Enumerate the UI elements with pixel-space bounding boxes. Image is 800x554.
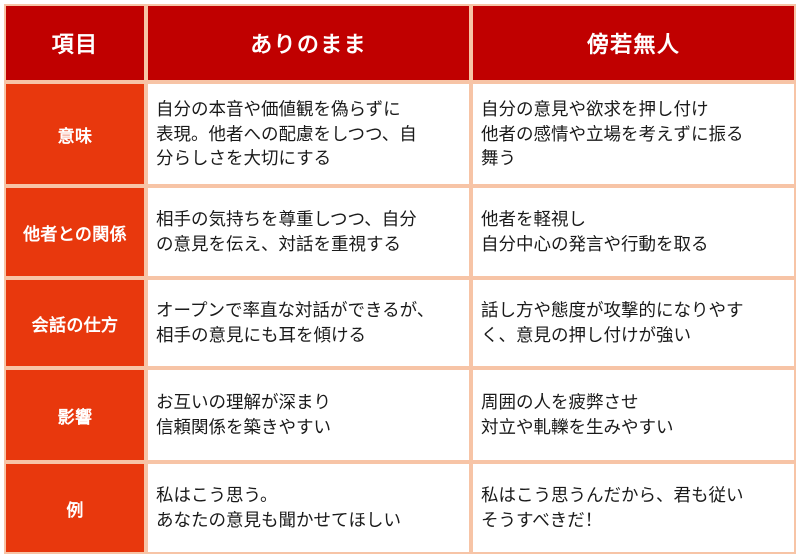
cell-line: 表現。他者への配慮をしつつ、自	[156, 122, 463, 147]
cell-eikyo-arinomama: お互いの理解が深まり 信頼関係を築きやすい	[146, 368, 471, 462]
cell-line: 対立や軋轢を生みやすい	[481, 415, 788, 440]
table-row: 他者との関係 相手の気持ちを尊重しつつ、自分 の意見を伝え、対話を重視する 他者…	[4, 186, 796, 278]
cell-line: 周囲の人を疲弊させ	[481, 390, 788, 415]
column-header-item: 項目	[4, 4, 146, 82]
cell-kaiwa-arinomama: オープンで率直な対話ができるが、 相手の意見にも耳を傾ける	[146, 278, 471, 368]
table-header: 項目 ありのまま 傍若無人	[4, 4, 796, 82]
cell-line: 相手の意見にも耳を傾ける	[156, 323, 463, 348]
cell-imi-arinomama: 自分の本音や価値観を偽らずに 表現。他者への配慮をしつつ、自 分らしさを大切にす…	[146, 82, 471, 186]
row-label-kaiwa: 会話の仕方	[4, 278, 146, 368]
cell-line: 自分中心の発言や行動を取る	[481, 232, 788, 257]
cell-kaiwa-boujakubujin: 話し方や態度が攻撃的になりやす く、意見の押し付けが強い	[471, 278, 796, 368]
cell-line: 他者を軽視し	[481, 207, 788, 232]
row-label-rei: 例	[4, 462, 146, 554]
cell-line: 相手の気持ちを尊重しつつ、自分	[156, 207, 463, 232]
cell-line: 話し方や態度が攻撃的になりやす	[481, 298, 788, 323]
cell-rei-boujakubujin: 私はこう思うんだから、君も従い そうすべきだ！	[471, 462, 796, 554]
cell-line: あなたの意見も聞かせてほしい	[156, 508, 463, 533]
cell-line: 他者の感情や立場を考えずに振る	[481, 122, 788, 147]
row-label-imi: 意味	[4, 82, 146, 186]
cell-kankei-boujakubujin: 他者を軽視し 自分中心の発言や行動を取る	[471, 186, 796, 278]
cell-imi-boujakubujin: 自分の意見や欲求を押し付け 他者の感情や立場を考えずに振る 舞う	[471, 82, 796, 186]
row-label-kankei: 他者との関係	[4, 186, 146, 278]
cell-line: く、意見の押し付けが強い	[481, 323, 788, 348]
cell-line: 自分の本音や価値観を偽らずに	[156, 97, 463, 122]
table-row: 例 私はこう思う。 あなたの意見も聞かせてほしい 私はこう思うんだから、君も従い…	[4, 462, 796, 554]
cell-line: の意見を伝え、対話を重視する	[156, 232, 463, 257]
header-row: 項目 ありのまま 傍若無人	[4, 4, 796, 82]
table-row: 影響 お互いの理解が深まり 信頼関係を築きやすい 周囲の人を疲弊させ 対立や軋轢…	[4, 368, 796, 462]
row-label-eikyo: 影響	[4, 368, 146, 462]
cell-line: オープンで率直な対話ができるが、	[156, 298, 463, 323]
table-body: 意味 自分の本音や価値観を偽らずに 表現。他者への配慮をしつつ、自 分らしさを大…	[4, 82, 796, 554]
cell-rei-arinomama: 私はこう思う。 あなたの意見も聞かせてほしい	[146, 462, 471, 554]
cell-line: 分らしさを大切にする	[156, 146, 463, 171]
column-header-arinomama: ありのまま	[146, 4, 471, 82]
comparison-table-container: 項目 ありのまま 傍若無人 意味 自分の本音や価値観を偽らずに 表現。他者への配…	[0, 0, 800, 496]
cell-eikyo-boujakubujin: 周囲の人を疲弊させ 対立や軋轢を生みやすい	[471, 368, 796, 462]
cell-line: そうすべきだ！	[481, 508, 788, 533]
cell-line: お互いの理解が深まり	[156, 390, 463, 415]
cell-line: 舞う	[481, 146, 788, 171]
column-header-boujakubujin: 傍若無人	[471, 4, 796, 82]
cell-line: 信頼関係を築きやすい	[156, 415, 463, 440]
table-row: 会話の仕方 オープンで率直な対話ができるが、 相手の意見にも耳を傾ける 話し方や…	[4, 278, 796, 368]
comparison-table: 項目 ありのまま 傍若無人 意味 自分の本音や価値観を偽らずに 表現。他者への配…	[4, 4, 796, 554]
cell-kankei-arinomama: 相手の気持ちを尊重しつつ、自分 の意見を伝え、対話を重視する	[146, 186, 471, 278]
cell-line: 自分の意見や欲求を押し付け	[481, 97, 788, 122]
table-row: 意味 自分の本音や価値観を偽らずに 表現。他者への配慮をしつつ、自 分らしさを大…	[4, 82, 796, 186]
